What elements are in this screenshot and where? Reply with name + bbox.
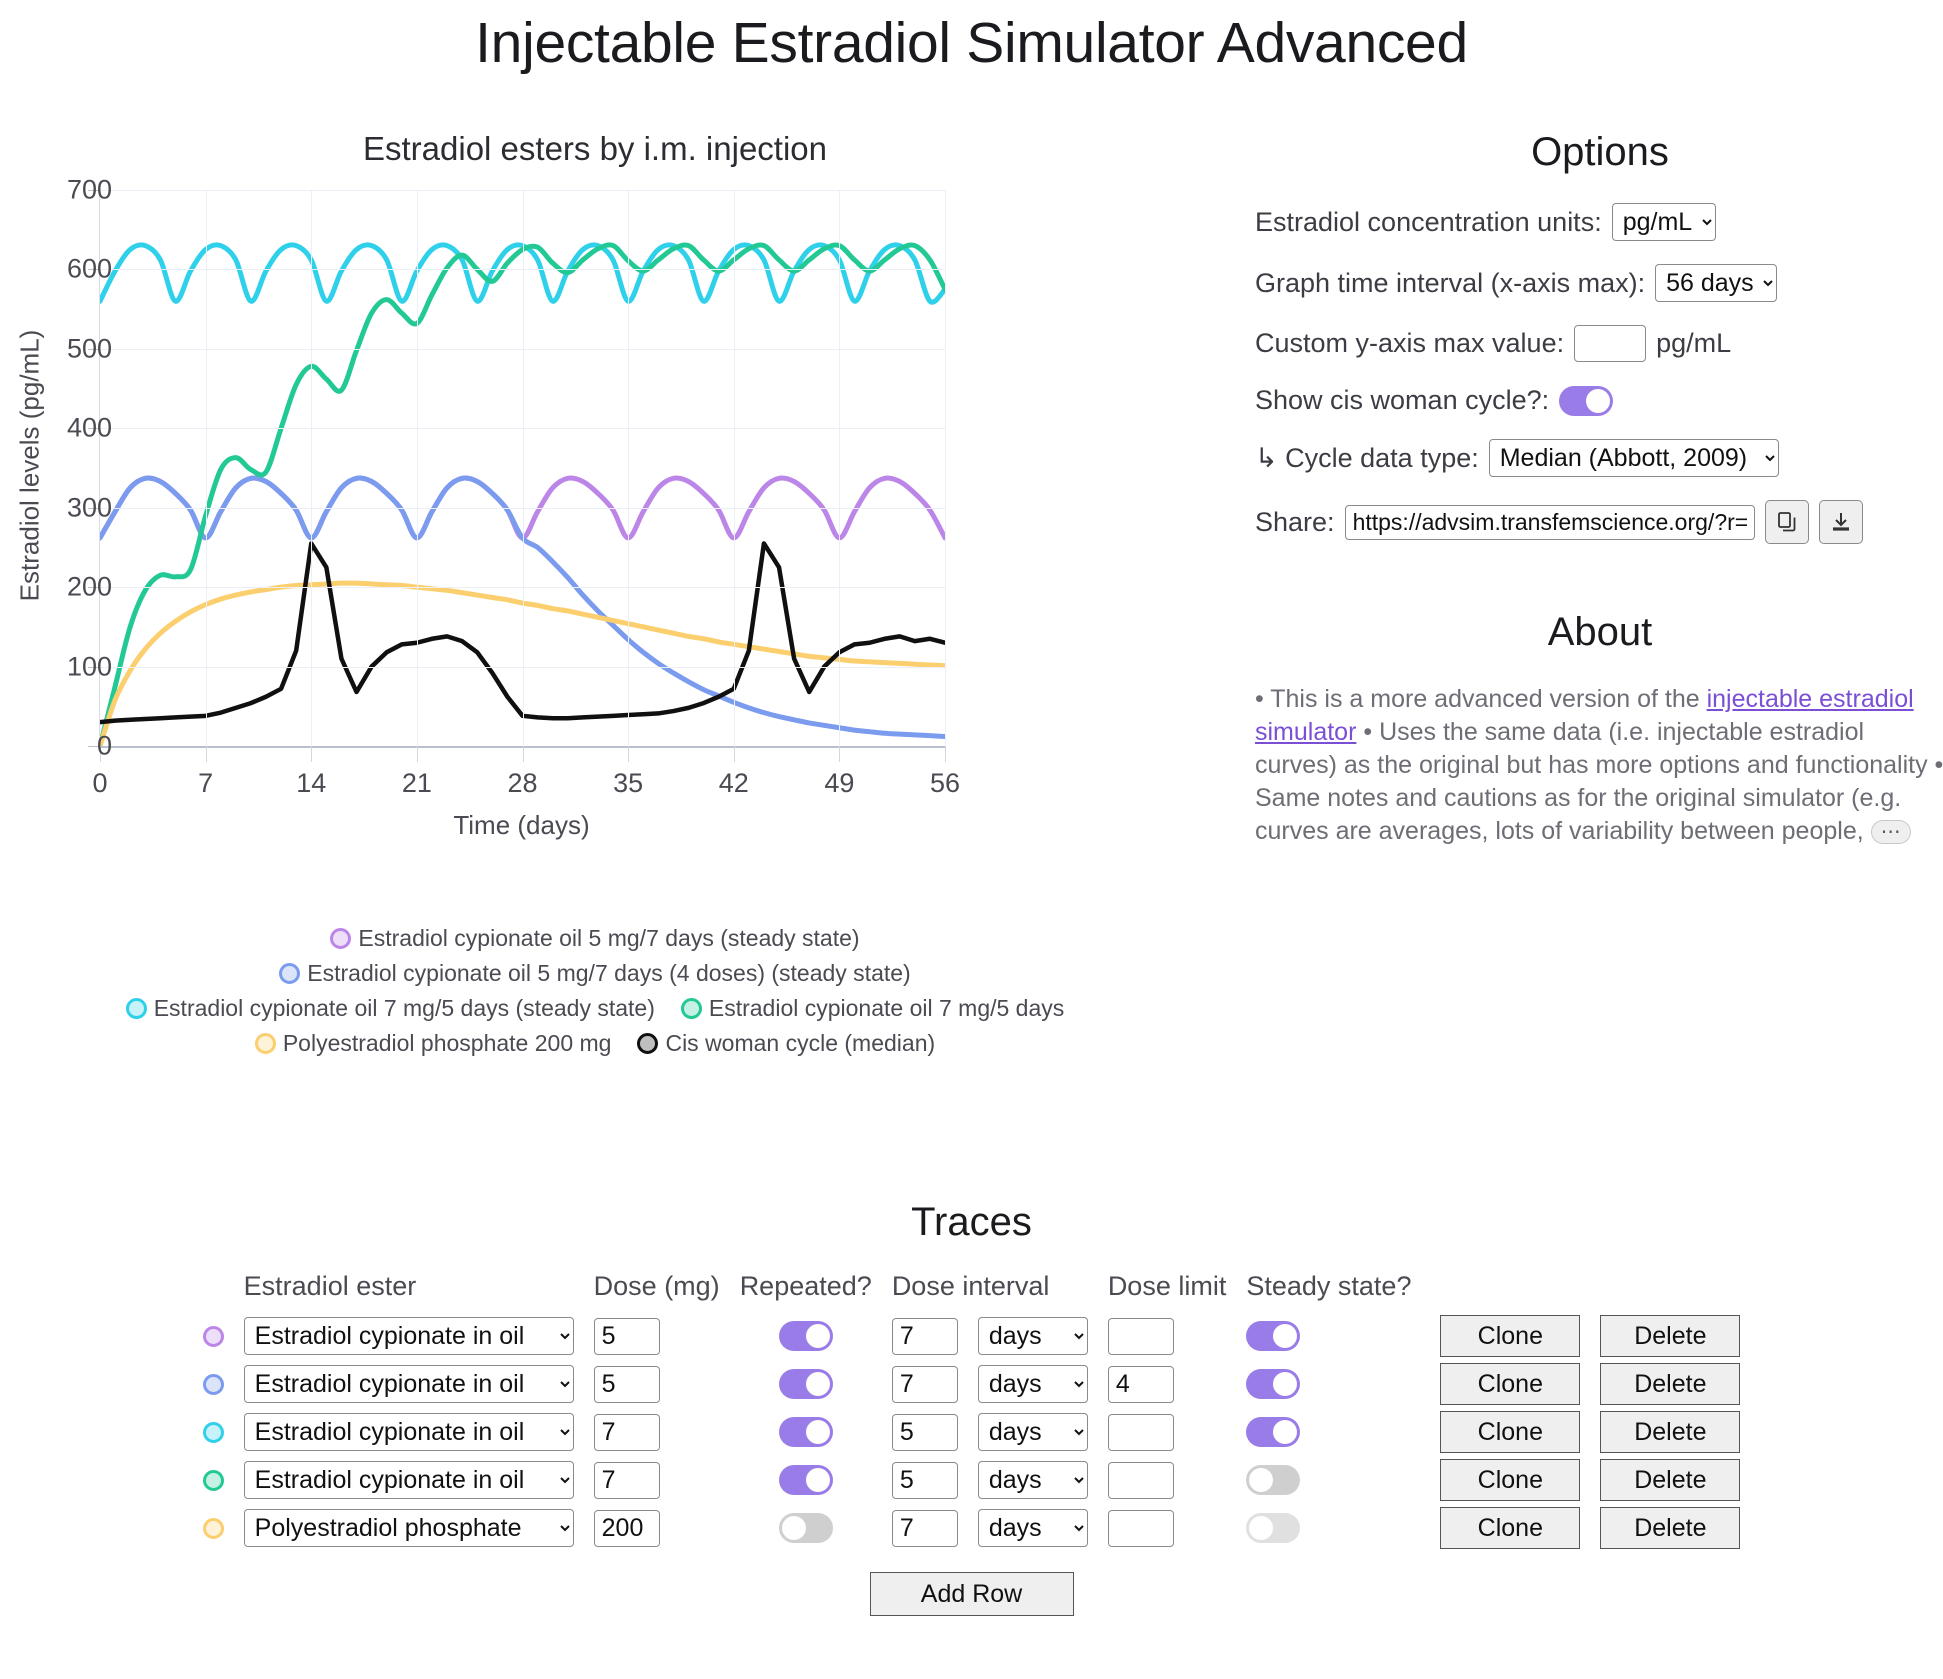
interval-unit-select[interactable]: days — [978, 1461, 1088, 1499]
dose-limit-input[interactable] — [1108, 1366, 1174, 1403]
dose-cell — [584, 1456, 730, 1504]
option-row-units: Estradiol concentration units: pg/mL — [1255, 203, 1943, 241]
option-row-interval: Graph time interval (x-axis max): 56 day… — [1255, 264, 1943, 302]
delete-button[interactable]: Delete — [1600, 1363, 1740, 1405]
ester-cell: Estradiol cypionate in oil — [234, 1456, 584, 1504]
plot-area: 0714212835424956 — [99, 190, 1169, 746]
legend-row: Estradiol cypionate oil 5 mg/7 days (4 d… — [0, 960, 1190, 987]
dose-limit-input[interactable] — [1108, 1462, 1174, 1499]
y-tick-label: 0 — [0, 731, 112, 762]
y-tick-label: 700 — [0, 175, 112, 206]
th-steady: Steady state? — [1236, 1271, 1430, 1312]
delete-button[interactable]: Delete — [1600, 1315, 1740, 1357]
clone-cell: Clone — [1430, 1360, 1590, 1408]
dose-limit-input[interactable] — [1108, 1510, 1174, 1547]
legend-item[interactable]: Estradiol cypionate oil 5 mg/7 days (ste… — [330, 925, 859, 952]
x-tick-label: 42 — [689, 768, 779, 799]
delete-cell: Delete — [1590, 1360, 1750, 1408]
delete-cell: Delete — [1590, 1408, 1750, 1456]
x-axis-label: Time (days) — [99, 810, 944, 841]
steady-state-cell — [1236, 1360, 1430, 1408]
x-tick-label: 0 — [55, 768, 145, 799]
repeated-cell — [730, 1312, 882, 1360]
ester-select[interactable]: Estradiol cypionate in oil — [244, 1413, 574, 1451]
dose-cell — [584, 1360, 730, 1408]
dose-limit-cell — [1098, 1456, 1237, 1504]
repeated-toggle[interactable] — [779, 1369, 833, 1399]
dose-limit-input[interactable] — [1108, 1318, 1174, 1355]
chart-legend: Estradiol cypionate oil 5 mg/7 days (ste… — [0, 925, 1190, 1065]
dose-input[interactable] — [594, 1414, 660, 1451]
legend-color-swatch — [330, 928, 351, 949]
interval-unit-select[interactable]: days — [978, 1365, 1088, 1403]
legend-item[interactable]: Polyestradiol phosphate 200 mg — [255, 1030, 612, 1057]
dose-cell — [584, 1408, 730, 1456]
about-text-1: • This is a more advanced version of the — [1255, 685, 1707, 713]
copy-icon-button[interactable] — [1765, 500, 1809, 544]
steady-state-toggle[interactable] — [1246, 1465, 1300, 1495]
legend-item[interactable]: Estradiol cypionate oil 7 mg/5 days — [681, 995, 1064, 1022]
clone-button[interactable]: Clone — [1440, 1459, 1580, 1501]
th-dose: Dose (mg) — [584, 1271, 730, 1312]
legend-item[interactable]: Cis woman cycle (median) — [637, 1030, 935, 1057]
th-color — [193, 1271, 234, 1312]
option-row-cycle-toggle: Show cis woman cycle?: — [1255, 385, 1943, 416]
interval-input[interactable] — [892, 1414, 958, 1451]
delete-cell: Delete — [1590, 1504, 1750, 1552]
trace-color-swatch — [203, 1326, 224, 1347]
legend-item[interactable]: Estradiol cypionate oil 7 mg/5 days (ste… — [126, 995, 655, 1022]
clone-cell: Clone — [1430, 1312, 1590, 1360]
clone-cell: Clone — [1430, 1408, 1590, 1456]
steady-state-toggle[interactable] — [1246, 1321, 1300, 1351]
legend-label: Estradiol cypionate oil 7 mg/5 days — [709, 995, 1064, 1022]
cycle-toggle-label: Show cis woman cycle?: — [1255, 385, 1549, 416]
gridline-vertical — [311, 190, 312, 746]
repeated-cell — [730, 1504, 882, 1552]
row-color-cell — [193, 1408, 234, 1456]
dose-limit-cell — [1098, 1504, 1237, 1552]
page-title: Injectable Estradiol Simulator Advanced — [0, 10, 1943, 76]
interval-input — [892, 1510, 958, 1547]
y-tick-label: 300 — [0, 492, 112, 523]
th-limit: Dose limit — [1098, 1271, 1237, 1312]
option-row-ymax: Custom y-axis max value: pg/mL — [1255, 325, 1943, 362]
th-delete — [1590, 1271, 1750, 1312]
ymax-input[interactable] — [1574, 325, 1646, 362]
plot-wrapper: Estradiol levels (pg/mL) 071421283542495… — [0, 165, 1190, 885]
legend-color-swatch — [279, 963, 300, 984]
options-panel: Options Estradiol concentration units: p… — [1255, 130, 1943, 567]
x-tick-mark — [945, 746, 946, 762]
x-tick-label: 28 — [478, 768, 568, 799]
dose-cell — [584, 1312, 730, 1360]
legend-color-swatch — [637, 1033, 658, 1054]
row-color-cell — [193, 1456, 234, 1504]
trace-color-swatch — [203, 1518, 224, 1539]
download-icon — [1829, 510, 1853, 534]
ester-select[interactable]: Estradiol cypionate in oil — [244, 1365, 574, 1403]
units-select[interactable]: pg/mL — [1612, 203, 1716, 241]
interval-cell — [882, 1408, 968, 1456]
share-label: Share: — [1255, 507, 1335, 538]
x-tick-mark — [523, 746, 524, 762]
repeated-toggle[interactable] — [779, 1513, 833, 1543]
legend-label: Estradiol cypionate oil 5 mg/7 days (ste… — [358, 925, 859, 952]
x-tick-mark — [311, 746, 312, 762]
option-row-share: Share: — [1255, 500, 1943, 544]
legend-row: Estradiol cypionate oil 5 mg/7 days (ste… — [0, 925, 1190, 952]
x-tick-mark — [206, 746, 207, 762]
ester-cell: Estradiol cypionate in oil — [234, 1408, 584, 1456]
dose-input[interactable] — [594, 1510, 660, 1547]
y-tick-label: 600 — [0, 254, 112, 285]
repeated-toggle[interactable] — [779, 1465, 833, 1495]
dose-input[interactable] — [594, 1366, 660, 1403]
ester-select[interactable]: Polyestradiol phosphate — [244, 1509, 574, 1547]
interval-unit-cell: days — [968, 1312, 1098, 1360]
dose-limit-cell — [1098, 1312, 1237, 1360]
x-tick-mark — [417, 746, 418, 762]
chart-panel: Estradiol esters by i.m. injection Estra… — [0, 130, 1190, 1140]
steady-state-cell — [1236, 1312, 1430, 1360]
ymax-suffix: pg/mL — [1656, 328, 1731, 359]
delete-button[interactable]: Delete — [1600, 1459, 1740, 1501]
th-repeated: Repeated? — [730, 1271, 882, 1312]
ester-cell: Estradiol cypionate in oil — [234, 1312, 584, 1360]
legend-label: Estradiol cypionate oil 7 mg/5 days (ste… — [154, 995, 655, 1022]
legend-label: Cis woman cycle (median) — [665, 1030, 935, 1057]
options-heading: Options — [1255, 130, 1943, 175]
legend-item[interactable]: Estradiol cypionate oil 5 mg/7 days (4 d… — [279, 960, 910, 987]
legend-label: Polyestradiol phosphate 200 mg — [283, 1030, 612, 1057]
interval-unit-select[interactable]: days — [978, 1413, 1088, 1451]
th-clone — [1430, 1271, 1590, 1312]
x-tick-label: 7 — [161, 768, 251, 799]
ester-cell: Polyestradiol phosphate — [234, 1504, 584, 1552]
interval-input[interactable] — [892, 1462, 958, 1499]
interval-select[interactable]: 56 days — [1655, 264, 1777, 302]
x-tick-mark — [628, 746, 629, 762]
interval-unit-select[interactable]: days — [978, 1317, 1088, 1355]
interval-input[interactable] — [892, 1366, 958, 1403]
delete-button[interactable]: Delete — [1600, 1507, 1740, 1549]
add-row-button[interactable]: Add Row — [870, 1572, 1074, 1616]
interval-cell — [882, 1312, 968, 1360]
clone-button[interactable]: Clone — [1440, 1363, 1580, 1405]
trace-color-swatch — [203, 1374, 224, 1395]
gridline-vertical — [523, 190, 524, 746]
th-ester: Estradiol ester — [234, 1271, 584, 1312]
interval-unit-cell: days — [968, 1408, 1098, 1456]
traces-heading: Traces — [0, 1200, 1943, 1245]
x-tick-label: 56 — [900, 768, 990, 799]
x-tick-mark — [734, 746, 735, 762]
about-heading: About — [1255, 610, 1943, 655]
show-cis-cycle-toggle[interactable] — [1559, 386, 1613, 416]
repeated-cell — [730, 1360, 882, 1408]
interval-cell — [882, 1360, 968, 1408]
about-body: • This is a more advanced version of the… — [1255, 683, 1943, 848]
cycle-type-select[interactable]: Median (Abbott, 2009) — [1489, 439, 1779, 477]
delete-cell: Delete — [1590, 1312, 1750, 1360]
dose-limit-input[interactable] — [1108, 1414, 1174, 1451]
units-label: Estradiol concentration units: — [1255, 207, 1602, 238]
x-tick-label: 14 — [266, 768, 356, 799]
interval-input[interactable] — [892, 1318, 958, 1355]
ester-cell: Estradiol cypionate in oil — [234, 1360, 584, 1408]
chart-title: Estradiol esters by i.m. injection — [0, 130, 1190, 168]
x-tick-label: 21 — [372, 768, 462, 799]
trace-color-swatch — [203, 1422, 224, 1443]
x-tick-mark — [839, 746, 840, 762]
download-icon-button[interactable] — [1819, 500, 1863, 544]
about-text-2: • Uses the same data (i.e. injectable es… — [1255, 718, 1943, 845]
legend-color-swatch — [255, 1033, 276, 1054]
clone-button[interactable]: Clone — [1440, 1507, 1580, 1549]
y-tick-label: 200 — [0, 572, 112, 603]
table-row: Estradiol cypionate in oildaysCloneDelet… — [193, 1408, 1751, 1456]
row-color-cell — [193, 1504, 234, 1552]
share-url-input[interactable] — [1345, 505, 1755, 540]
expand-about-button[interactable]: ⋯ — [1871, 820, 1911, 844]
clone-cell: Clone — [1430, 1456, 1590, 1504]
ymax-label: Custom y-axis max value: — [1255, 328, 1564, 359]
interval-label: Graph time interval (x-axis max): — [1255, 268, 1645, 299]
table-row: Estradiol cypionate in oildaysCloneDelet… — [193, 1312, 1751, 1360]
dose-limit-cell — [1098, 1408, 1237, 1456]
delete-cell: Delete — [1590, 1456, 1750, 1504]
interval-unit-cell: days — [968, 1456, 1098, 1504]
steady-state-toggle[interactable] — [1246, 1417, 1300, 1447]
interval-cell — [882, 1504, 968, 1552]
legend-label: Estradiol cypionate oil 5 mg/7 days (4 d… — [307, 960, 910, 987]
y-tick-label: 400 — [0, 413, 112, 444]
legend-row: Estradiol cypionate oil 7 mg/5 days (ste… — [0, 995, 1190, 1022]
clone-cell: Clone — [1430, 1504, 1590, 1552]
steady-state-cell — [1236, 1408, 1430, 1456]
th-interval: Dose interval — [882, 1271, 1098, 1312]
gridline-vertical — [628, 190, 629, 746]
gridline-vertical — [206, 190, 207, 746]
steady-state-toggle[interactable] — [1246, 1369, 1300, 1399]
traces-header-row: Estradiol ester Dose (mg) Repeated? Dose… — [193, 1271, 1751, 1312]
traces-table: Estradiol ester Dose (mg) Repeated? Dose… — [193, 1271, 1751, 1552]
interval-unit-cell: days — [968, 1504, 1098, 1552]
repeated-cell — [730, 1456, 882, 1504]
copy-icon — [1775, 510, 1799, 534]
repeated-toggle[interactable] — [779, 1417, 833, 1447]
repeated-toggle[interactable] — [779, 1321, 833, 1351]
table-row: Polyestradiol phosphatedaysCloneDelete — [193, 1504, 1751, 1552]
row-color-cell — [193, 1312, 234, 1360]
steady-state-toggle[interactable] — [1246, 1513, 1300, 1543]
gridline-vertical — [734, 190, 735, 746]
steady-state-cell — [1236, 1456, 1430, 1504]
table-row: Estradiol cypionate in oildaysCloneDelet… — [193, 1456, 1751, 1504]
legend-color-swatch — [126, 998, 147, 1019]
add-row-container: Add Row — [0, 1572, 1943, 1616]
traces-panel: Traces Estradiol ester Dose (mg) Repeate… — [0, 1200, 1943, 1616]
gridline-vertical — [839, 190, 840, 746]
gridline-vertical — [417, 190, 418, 746]
row-color-cell — [193, 1360, 234, 1408]
ester-select[interactable]: Estradiol cypionate in oil — [244, 1461, 574, 1499]
dose-input[interactable] — [594, 1318, 660, 1355]
steady-state-cell — [1236, 1504, 1430, 1552]
trace-color-swatch — [203, 1470, 224, 1491]
cycle-type-label: ↳ Cycle data type: — [1255, 443, 1479, 474]
interval-cell — [882, 1456, 968, 1504]
clone-button[interactable]: Clone — [1440, 1411, 1580, 1453]
gridline-vertical — [945, 190, 946, 746]
repeated-cell — [730, 1408, 882, 1456]
legend-color-swatch — [681, 998, 702, 1019]
legend-row: Polyestradiol phosphate 200 mgCis woman … — [0, 1030, 1190, 1057]
interval-unit-cell: days — [968, 1360, 1098, 1408]
option-row-cycle-type: ↳ Cycle data type: Median (Abbott, 2009) — [1255, 439, 1943, 477]
x-tick-label: 49 — [794, 768, 884, 799]
y-tick-label: 500 — [0, 333, 112, 364]
dose-cell — [584, 1504, 730, 1552]
y-tick-label: 100 — [0, 651, 112, 682]
table-row: Estradiol cypionate in oildaysCloneDelet… — [193, 1360, 1751, 1408]
dose-input[interactable] — [594, 1462, 660, 1499]
clone-button[interactable]: Clone — [1440, 1315, 1580, 1357]
about-panel: About • This is a more advanced version … — [1255, 610, 1943, 848]
interval-unit-select: days — [978, 1509, 1088, 1547]
x-tick-label: 35 — [583, 768, 673, 799]
dose-limit-cell — [1098, 1360, 1237, 1408]
ester-select[interactable]: Estradiol cypionate in oil — [244, 1317, 574, 1355]
delete-button[interactable]: Delete — [1600, 1411, 1740, 1453]
